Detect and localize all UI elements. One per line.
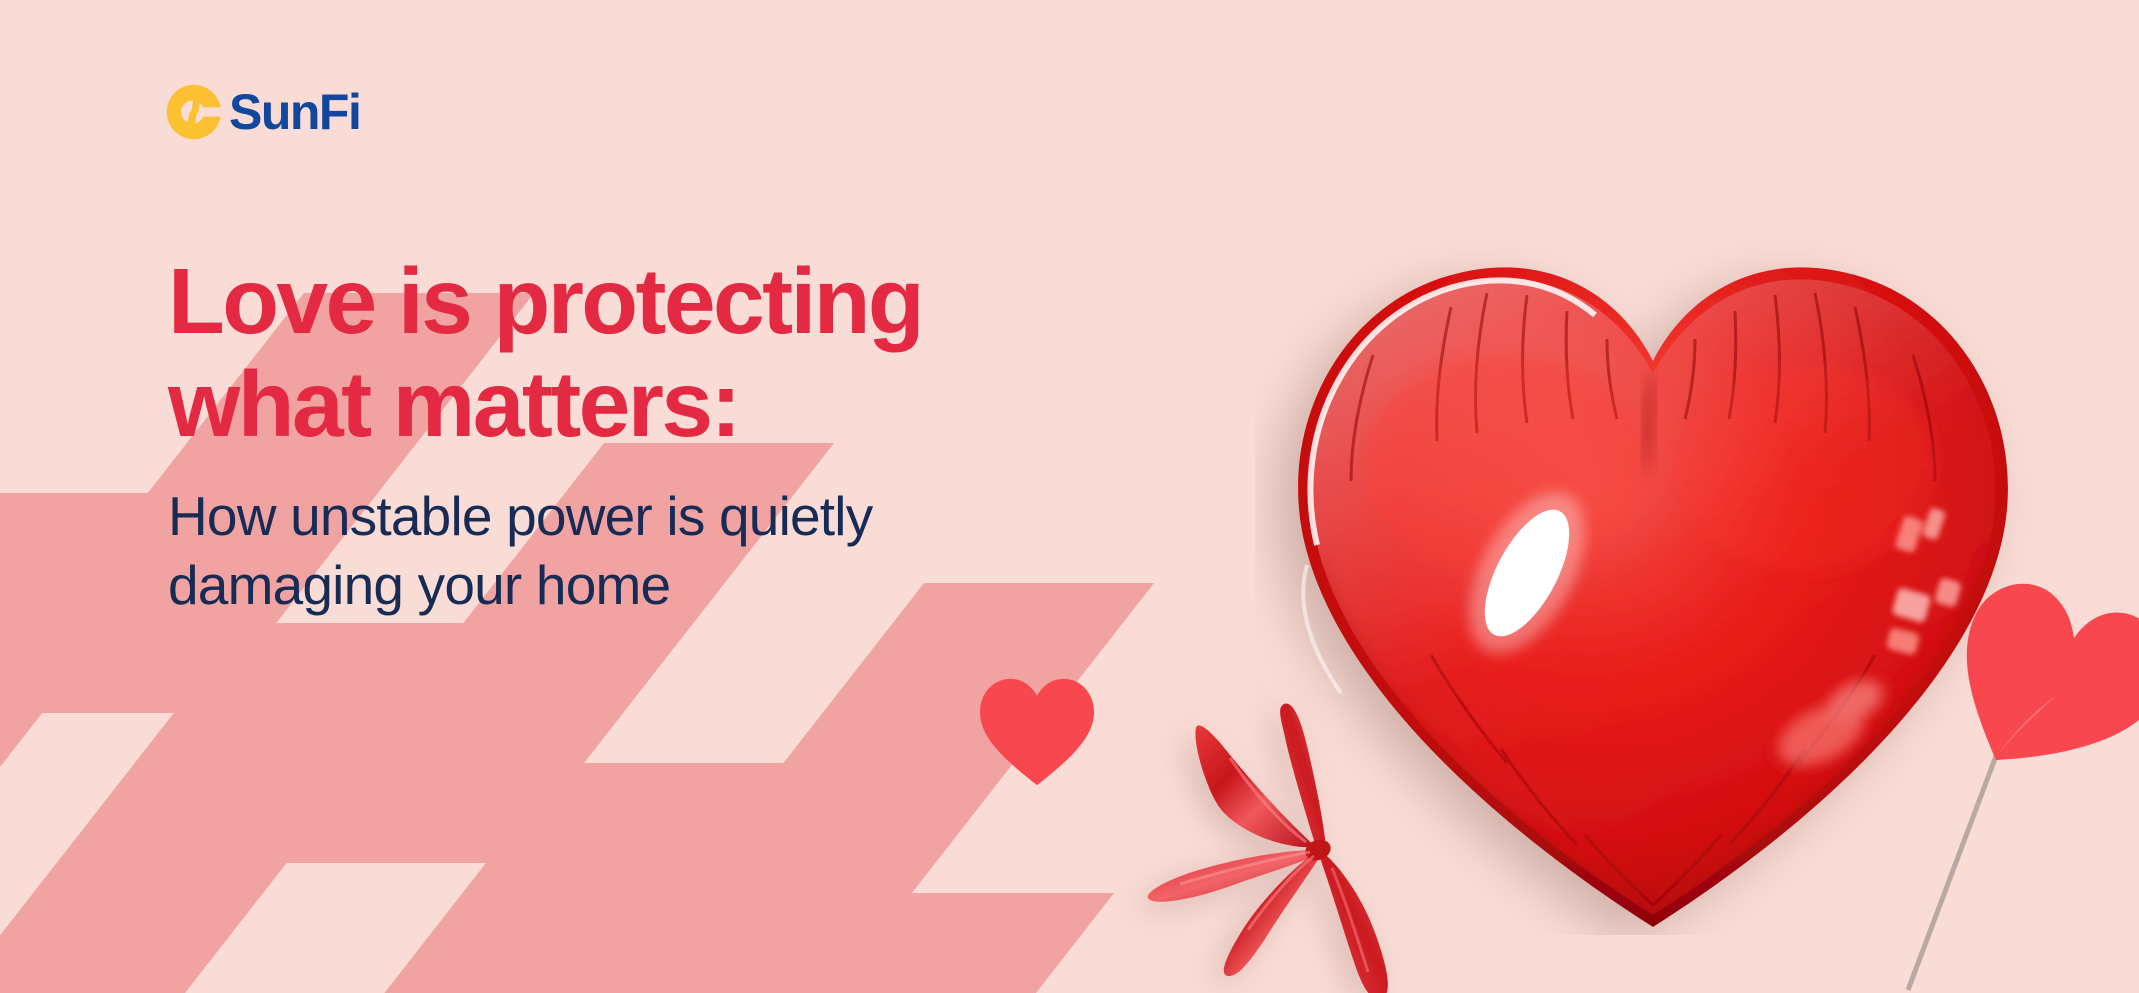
sunfi-swirl-icon bbox=[165, 83, 223, 141]
stripe bbox=[0, 623, 474, 993]
heart-icon bbox=[978, 676, 1096, 788]
stripe bbox=[556, 893, 1114, 993]
stick bbox=[1908, 756, 1996, 990]
logo-wordmark: SunFi bbox=[229, 87, 360, 137]
page-subtitle: How unstable power is quietly damaging y… bbox=[168, 482, 1168, 618]
stripe bbox=[236, 763, 794, 993]
copy-block: Love is protecting what matters: How uns… bbox=[168, 250, 1168, 619]
heart-on-stick-icon bbox=[1900, 560, 2139, 993]
page-title: Love is protecting what matters: bbox=[168, 250, 1168, 456]
sunfi-logo[interactable]: SunFi bbox=[165, 83, 360, 141]
stripe bbox=[596, 583, 1154, 993]
valentine-marketing-banner: SunFi Love is protecting what matters: H… bbox=[0, 0, 2139, 993]
